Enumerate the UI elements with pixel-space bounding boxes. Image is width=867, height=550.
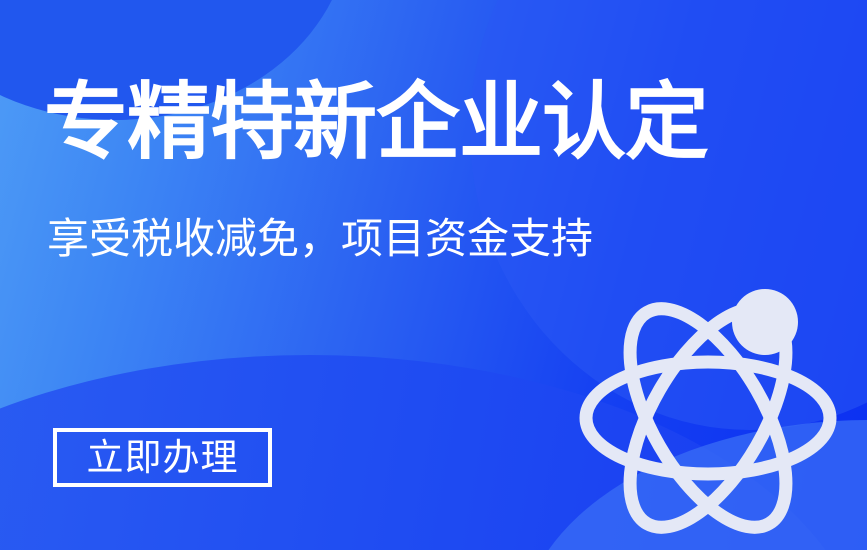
banner-headline: 专精特新企业认定 — [44, 80, 708, 164]
banner-content: 专精特新企业认定 享受税收减免，项目资金支持 立即办理 — [0, 0, 867, 550]
banner-subheadline: 享受税收减免，项目资金支持 — [47, 216, 593, 262]
apply-now-button[interactable]: 立即办理 — [53, 428, 272, 487]
promo-banner: 专精特新企业认定 享受税收减免，项目资金支持 立即办理 — [0, 0, 867, 550]
